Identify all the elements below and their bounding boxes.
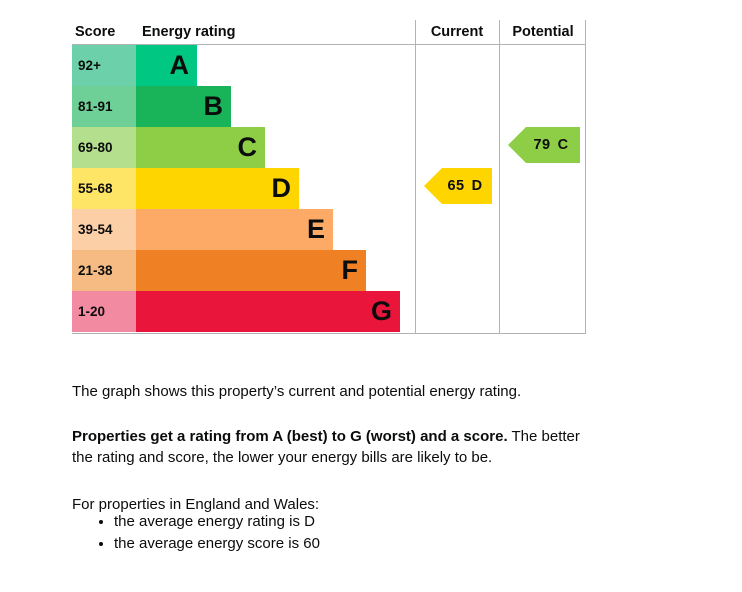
divider-rating-current <box>415 20 416 334</box>
list-item: the average energy rating is D <box>114 511 320 533</box>
score-range-b: 81-91 <box>72 86 136 127</box>
band-bar-g: G <box>136 291 400 332</box>
table-bottom-border <box>72 333 586 334</box>
band-row-g: 1-20 G <box>72 291 586 332</box>
column-header-score: Score <box>75 20 135 44</box>
epc-band-rows: 92+ A 81-91 B 69-80 C 55-68 <box>72 45 586 334</box>
band-row-a: 92+ A <box>72 45 586 86</box>
epc-table-header: Score Energy rating Current Potential <box>72 20 586 45</box>
rating-explanation-bold: Properties get a rating from A (best) to… <box>72 428 508 445</box>
divider-table-right-edge <box>585 20 586 334</box>
band-row-f: 21-38 F <box>72 250 586 291</box>
band-row-c: 69-80 C <box>72 127 586 168</box>
score-range-f: 21-38 <box>72 250 136 291</box>
score-range-e: 39-54 <box>72 209 136 250</box>
band-letter-c: C <box>238 127 258 168</box>
potential-rating-score: 79 <box>533 137 550 153</box>
band-row-e: 39-54 E <box>72 209 586 250</box>
band-bar-f: F <box>136 250 366 291</box>
band-letter-g: G <box>371 291 392 332</box>
column-header-potential: Potential <box>500 20 586 44</box>
list-item: the average energy score is 60 <box>114 533 320 555</box>
band-bar-c: C <box>136 127 265 168</box>
score-range-d: 55-68 <box>72 168 136 209</box>
averages-list: the average energy rating is D the avera… <box>88 511 320 555</box>
band-letter-f: F <box>342 250 359 291</box>
band-bar-a: A <box>136 45 197 86</box>
divider-current-potential <box>499 20 500 334</box>
column-header-energy-rating: Energy rating <box>142 20 342 44</box>
band-row-b: 81-91 B <box>72 86 586 127</box>
rating-explanation-text: Properties get a rating from A (best) to… <box>72 426 592 468</box>
band-letter-e: E <box>307 209 325 250</box>
band-row-d: 55-68 D <box>72 168 586 209</box>
column-header-current: Current <box>416 20 498 44</box>
score-range-c: 69-80 <box>72 127 136 168</box>
band-letter-a: A <box>170 45 190 86</box>
band-bar-e: E <box>136 209 333 250</box>
graph-description-text: The graph shows this property’s current … <box>72 381 632 402</box>
band-bar-b: B <box>136 86 231 127</box>
epc-rating-chart: Score Energy rating Current Potential 92… <box>72 20 586 334</box>
band-bar-d: D <box>136 168 299 209</box>
current-rating-score: 65 <box>447 178 464 194</box>
score-range-a: 92+ <box>72 45 136 86</box>
epc-table: Score Energy rating Current Potential 92… <box>72 20 586 334</box>
potential-rating-letter: C <box>558 137 569 153</box>
band-letter-b: B <box>204 86 224 127</box>
band-letter-d: D <box>272 168 292 209</box>
current-rating-letter: D <box>472 178 483 194</box>
score-range-g: 1-20 <box>72 291 136 332</box>
